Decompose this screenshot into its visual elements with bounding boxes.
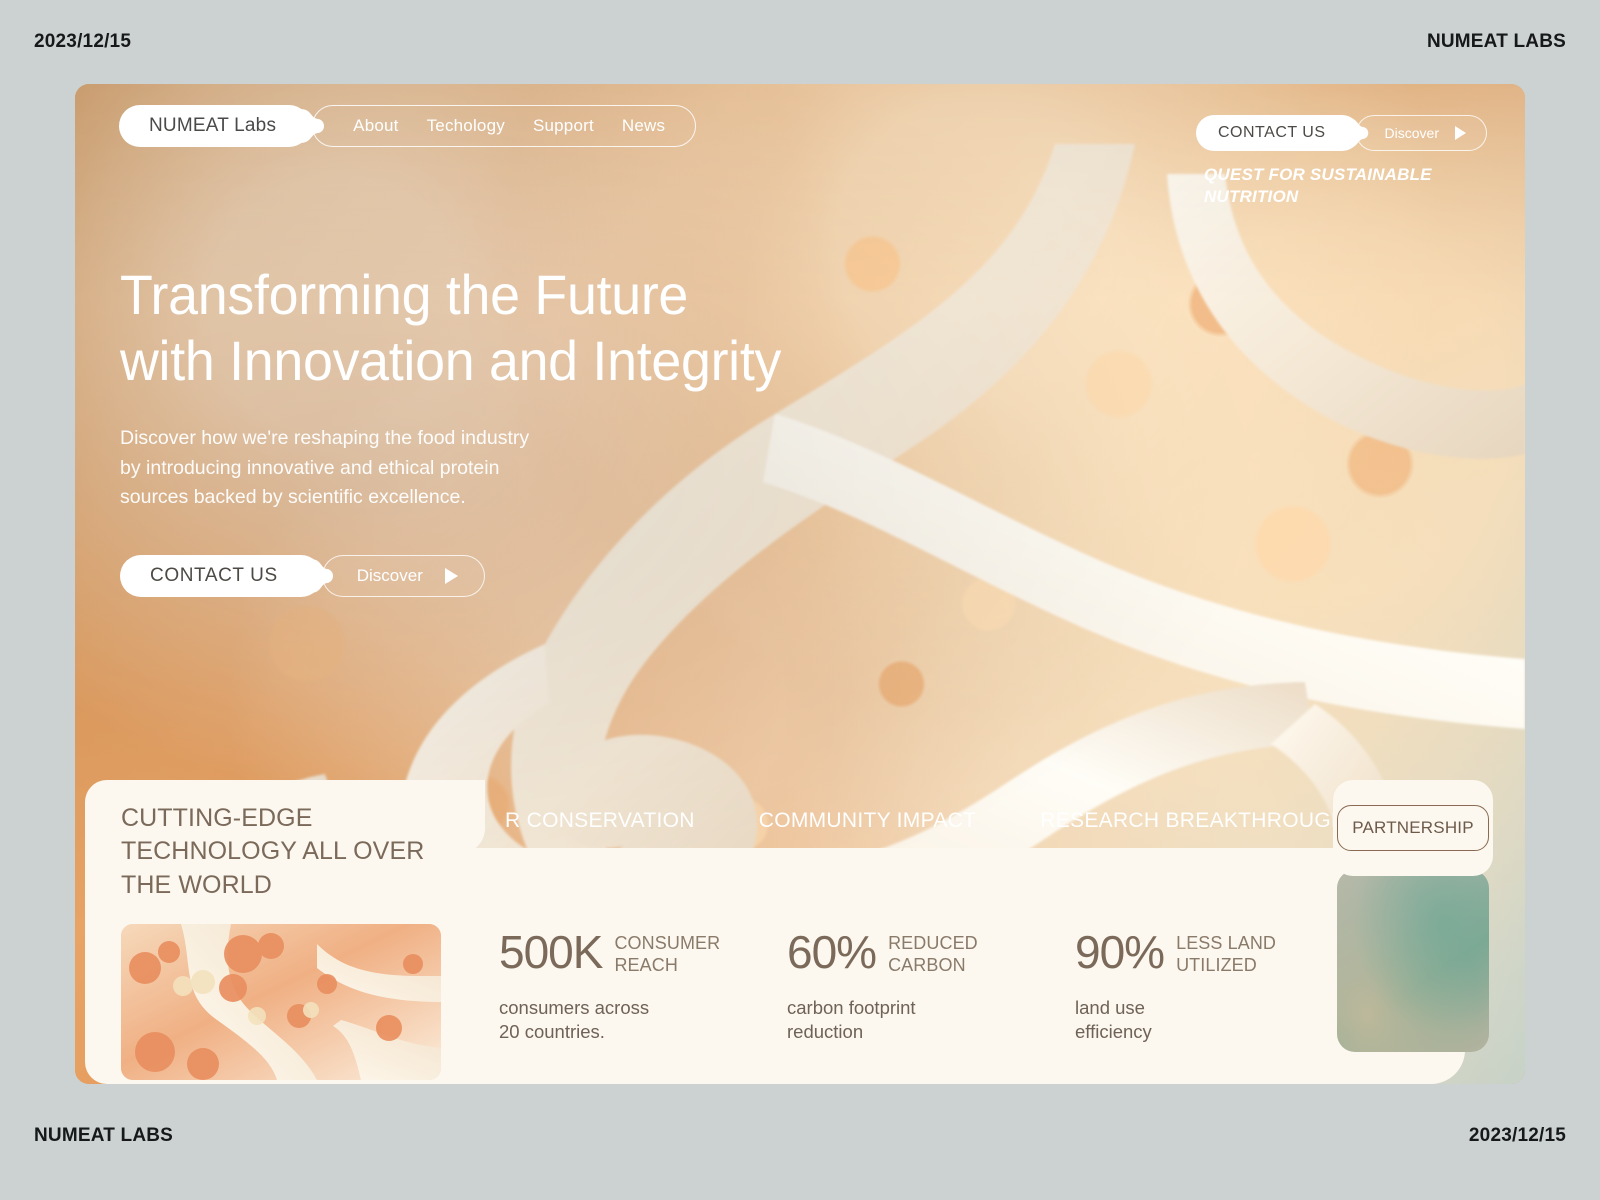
- ticker-item-community-impact[interactable]: COMMUNITY IMPACT: [759, 809, 977, 833]
- nav-link-news[interactable]: News: [622, 116, 665, 136]
- stat-value: 90%: [1075, 929, 1164, 975]
- partnership-chip-container: PARTNERSHIP: [1333, 780, 1493, 876]
- partnership-button[interactable]: PARTNERSHIP: [1337, 805, 1489, 851]
- header-cta-group: CONTACT US Discover: [1196, 115, 1487, 151]
- hero-contact-us-button[interactable]: CONTACT US: [120, 555, 322, 597]
- stat-less-land: 90% LESS LAND UTILIZED land use efficien…: [1075, 929, 1363, 1044]
- stat-description: carbon footprint reduction: [787, 996, 1075, 1044]
- stat-value: 60%: [787, 929, 876, 975]
- stat-label: REDUCED CARBON: [888, 929, 978, 976]
- footer-date: 2023/12/15: [1469, 1125, 1566, 1147]
- stat-label: LESS LAND UTILIZED: [1176, 929, 1276, 976]
- footer-brand-label: NUMEAT LABS: [34, 1125, 173, 1147]
- side-preview-image: [1337, 870, 1489, 1052]
- nav-link-techology[interactable]: Techology: [427, 116, 505, 136]
- hero-discover-label: Discover: [357, 566, 423, 586]
- stat-top: 60% REDUCED CARBON: [787, 929, 1075, 976]
- hero-tagline: QUEST FOR SUSTAINABLE NUTRITION: [1204, 164, 1444, 208]
- play-icon: [1455, 126, 1466, 140]
- nav-link-about[interactable]: About: [353, 116, 398, 136]
- play-icon: [445, 568, 458, 584]
- ticker-item-conservation[interactable]: R CONSERVATION: [505, 809, 695, 833]
- stats-row: 500K CONSUMER REACH consumers across 20 …: [499, 929, 1363, 1044]
- stat-top: 500K CONSUMER REACH: [499, 929, 787, 976]
- page-header: 2023/12/15 NUMEAT LABS: [0, 31, 1600, 53]
- hero-cta-group: CONTACT US Discover: [120, 555, 809, 597]
- hero-subcopy: Discover how we're reshaping the food in…: [120, 424, 540, 513]
- hero-card: NUMEAT Labs About Techology Support News…: [75, 84, 1525, 1084]
- ticker-item-research-breakthroughs[interactable]: RESEARCH BREAKTHROUGHS: [1040, 809, 1360, 833]
- page-footer: NUMEAT LABS 2023/12/15: [0, 1125, 1600, 1147]
- header-contact-us-button[interactable]: CONTACT US: [1196, 115, 1360, 151]
- stat-label: CONSUMER REACH: [614, 929, 720, 976]
- stat-description: land use efficiency: [1075, 996, 1363, 1044]
- header-brand-label: NUMEAT LABS: [1427, 31, 1566, 53]
- hero-contact-us-label: CONTACT US: [150, 565, 278, 587]
- hero-headline-line-1: Transforming the Future: [120, 262, 781, 328]
- nav-links: About Techology Support News: [312, 105, 696, 147]
- header-discover-label: Discover: [1385, 125, 1439, 141]
- stat-reduced-carbon: 60% REDUCED CARBON carbon footprint redu…: [787, 929, 1075, 1044]
- header-contact-us-label: CONTACT US: [1218, 124, 1326, 142]
- stat-value: 500K: [499, 929, 602, 975]
- nav-link-support[interactable]: Support: [533, 116, 594, 136]
- stat-consumer-reach: 500K CONSUMER REACH consumers across 20 …: [499, 929, 787, 1044]
- hero-headline: Transforming the Future with Innovation …: [120, 262, 781, 394]
- brand-logo[interactable]: NUMEAT Labs: [119, 105, 310, 147]
- stat-top: 90% LESS LAND UTILIZED: [1075, 929, 1363, 976]
- header-date: 2023/12/15: [34, 31, 131, 53]
- primary-navigation: NUMEAT Labs About Techology Support News: [119, 105, 696, 147]
- panel-heading: CUTTING-EDGE TECHNOLOGY ALL OVER THE WOR…: [121, 802, 451, 902]
- hero-discover-button[interactable]: Discover: [322, 555, 485, 597]
- hero-headline-line-2: with Innovation and Integrity: [120, 328, 781, 394]
- hero-top-right-cluster: CONTACT US Discover QUEST FOR SUSTAINABL…: [1196, 115, 1487, 208]
- panel-thumbnail-image: [121, 924, 441, 1080]
- brand-logo-label: NUMEAT Labs: [149, 115, 276, 137]
- stat-description: consumers across 20 countries.: [499, 996, 787, 1044]
- hero-copy: Transforming the Future with Innovation …: [120, 262, 809, 597]
